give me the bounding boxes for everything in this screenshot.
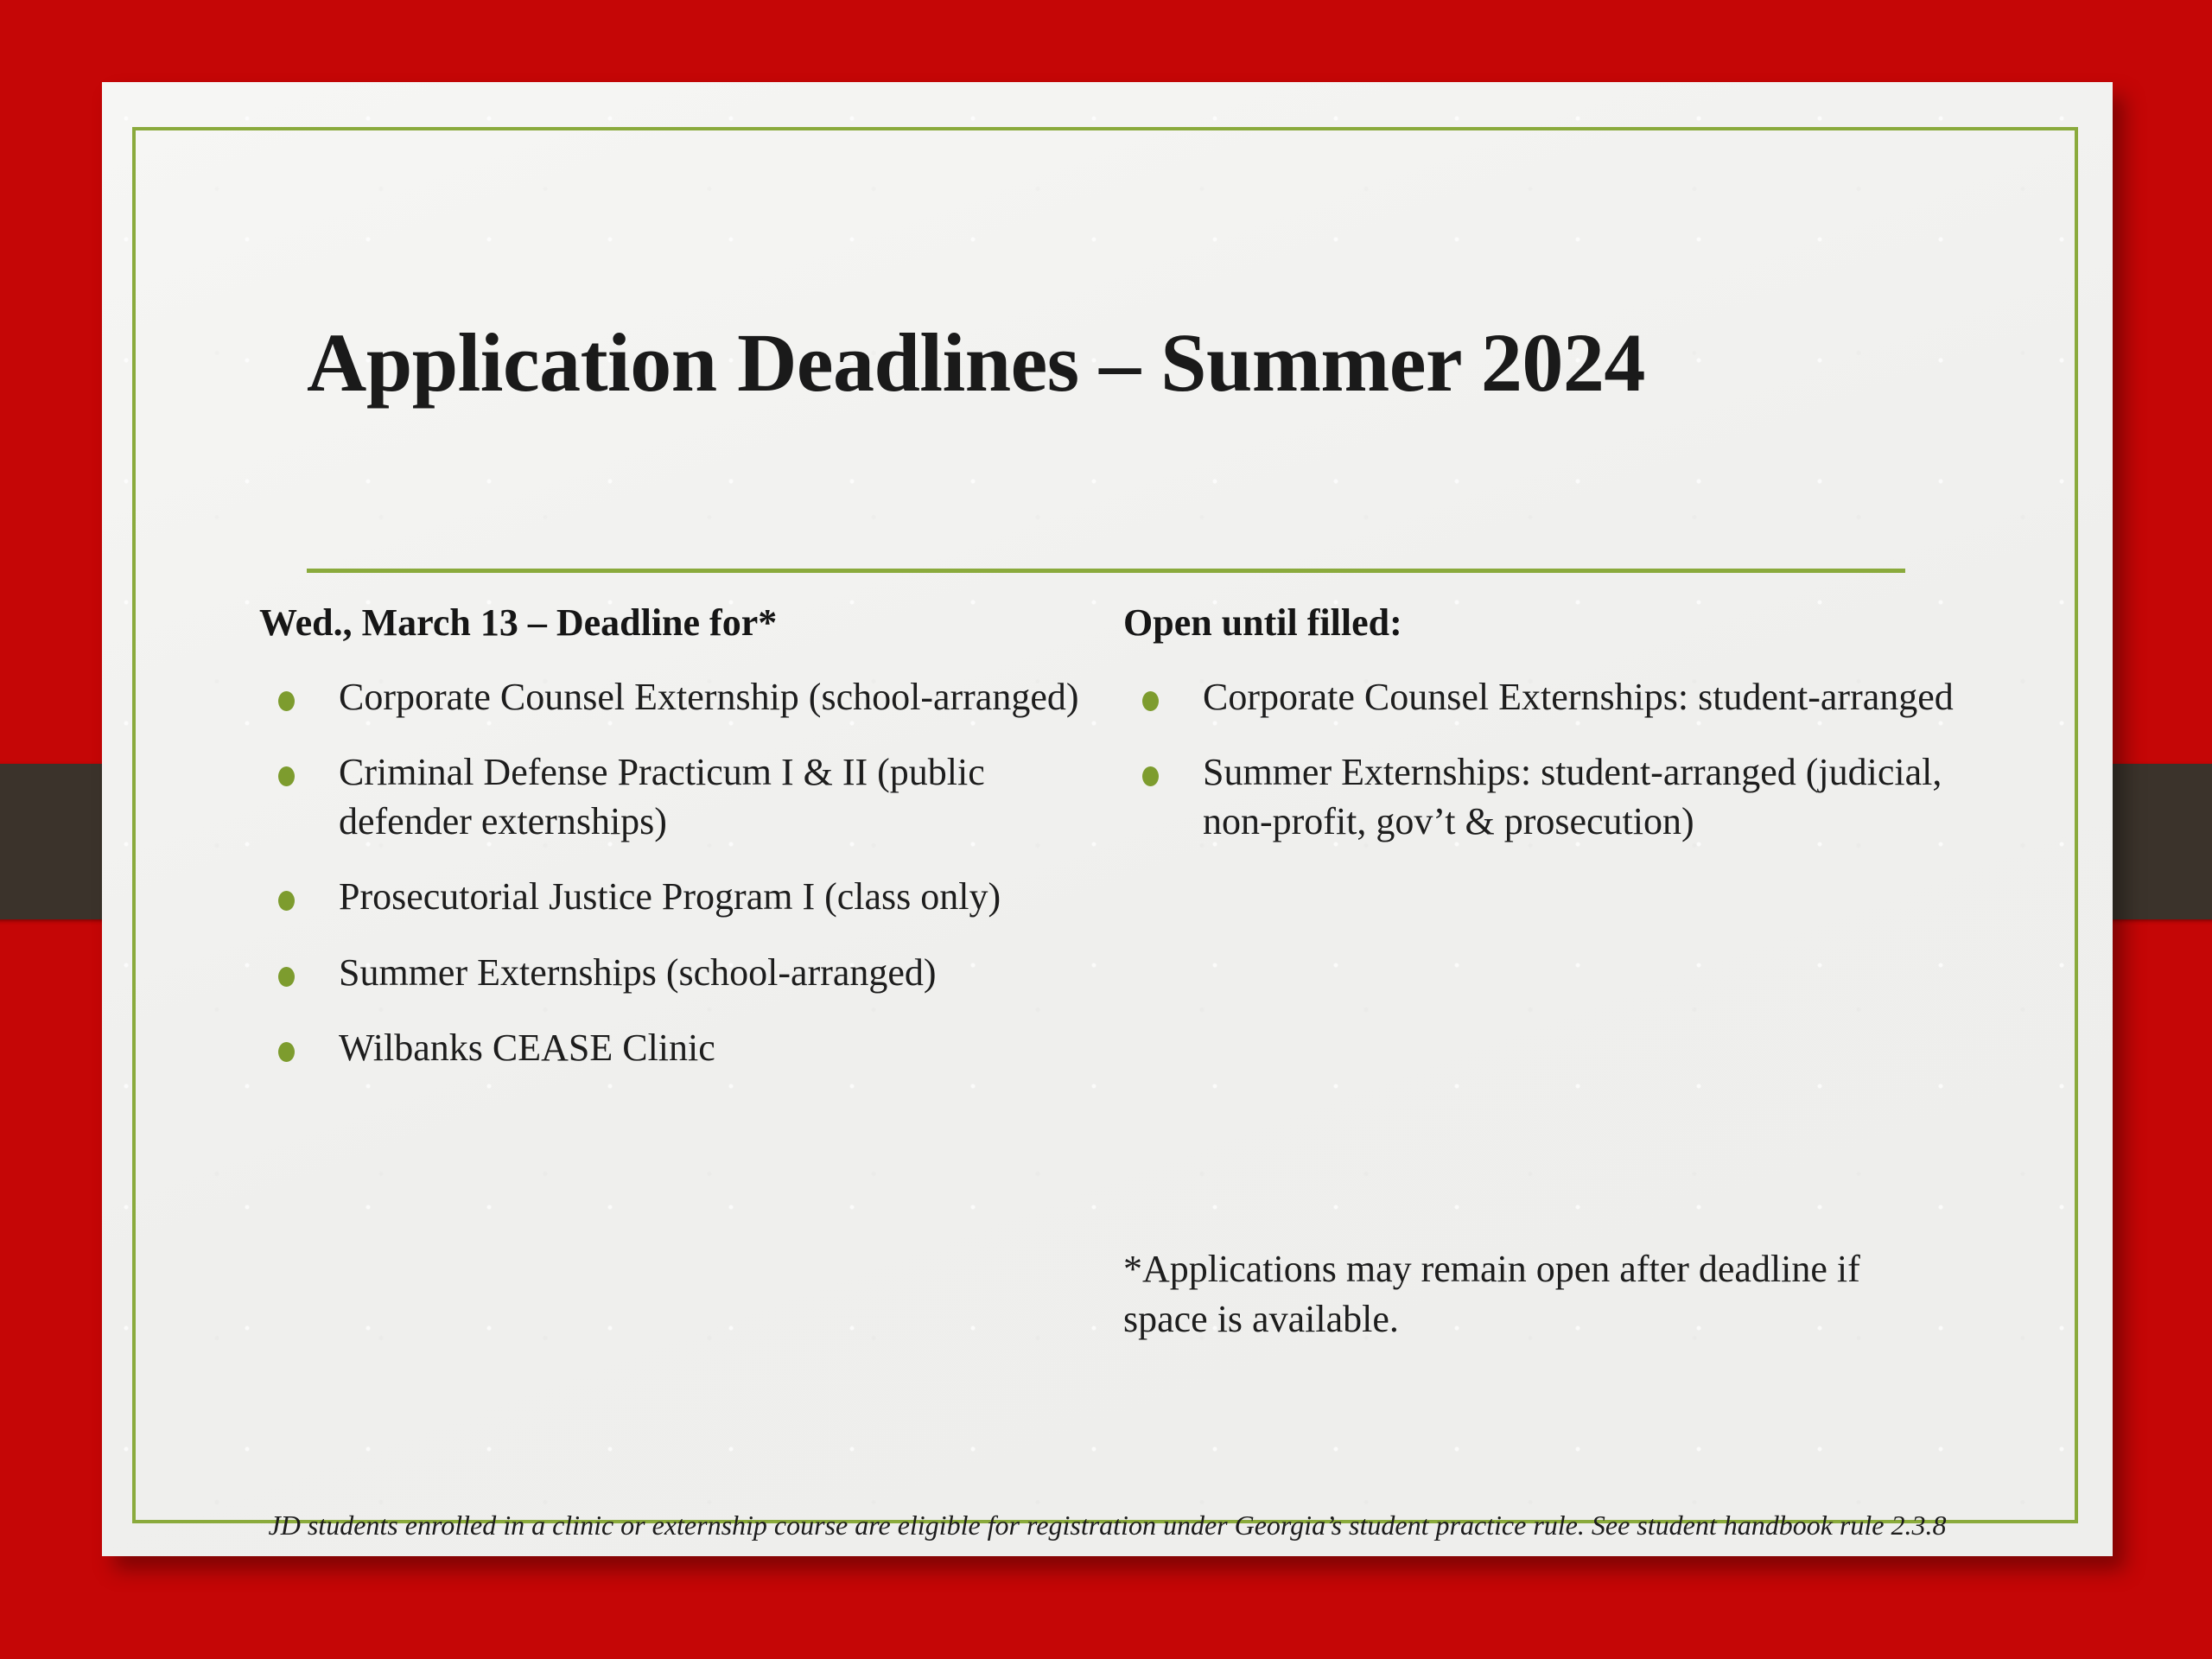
list-item: Corporate Counsel Externship (school-arr… [259,672,1089,721]
bullet-dot-icon [278,691,295,711]
list-item: Wilbanks CEASE Clinic [259,1023,1089,1072]
bullet-dot-icon [1142,691,1159,711]
student-practice-note: JD students enrolled in a clinic or exte… [240,1506,1974,1545]
slide-title: Application Deadlines – Summer 2024 [307,320,1948,407]
left-column-bullet-list: Corporate Counsel Externship (school-arr… [259,672,1089,1072]
right-column-bullet-list: Corporate Counsel Externships: student-a… [1123,672,1970,847]
list-item: Corporate Counsel Externships: student-a… [1123,672,1970,721]
left-column-heading: Wed., March 13 – Deadline for* [259,601,1089,646]
list-item-label: Criminal Defense Practicum I & II (publi… [339,751,985,842]
right-column-heading: Open until filled: [1123,601,1970,646]
list-item-label: Summer Externships: student-arranged (ju… [1203,751,1942,842]
bullet-dot-icon [278,891,295,911]
title-divider-line [307,569,1905,573]
list-item: Summer Externships: student-arranged (ju… [1123,747,1970,846]
bullet-dot-icon [278,766,295,786]
bullet-dot-icon [1142,766,1159,786]
list-item-label: Summer Externships (school-arranged) [339,951,937,994]
list-item-label: Corporate Counsel Externship (school-arr… [339,676,1079,718]
list-item: Prosecutorial Justice Program I (class o… [259,872,1089,921]
list-item-label: Wilbanks CEASE Clinic [339,1027,715,1069]
deadline-footnote: *Applications may remain open after dead… [1123,1244,1953,1344]
list-item-label: Corporate Counsel Externships: student-a… [1203,676,1954,718]
left-column: Wed., March 13 – Deadline for* Corporate… [259,601,1089,1098]
slide-card: Application Deadlines – Summer 2024 Wed.… [102,82,2113,1556]
list-item-label: Prosecutorial Justice Program I (class o… [339,875,1001,918]
list-item: Summer Externships (school-arranged) [259,948,1089,997]
list-item: Criminal Defense Practicum I & II (publi… [259,747,1089,846]
right-column: Open until filled: Corporate Counsel Ext… [1123,601,1970,872]
bullet-dot-icon [278,967,295,987]
slide-canvas: Application Deadlines – Summer 2024 Wed.… [0,0,2212,1659]
bullet-dot-icon [278,1042,295,1062]
